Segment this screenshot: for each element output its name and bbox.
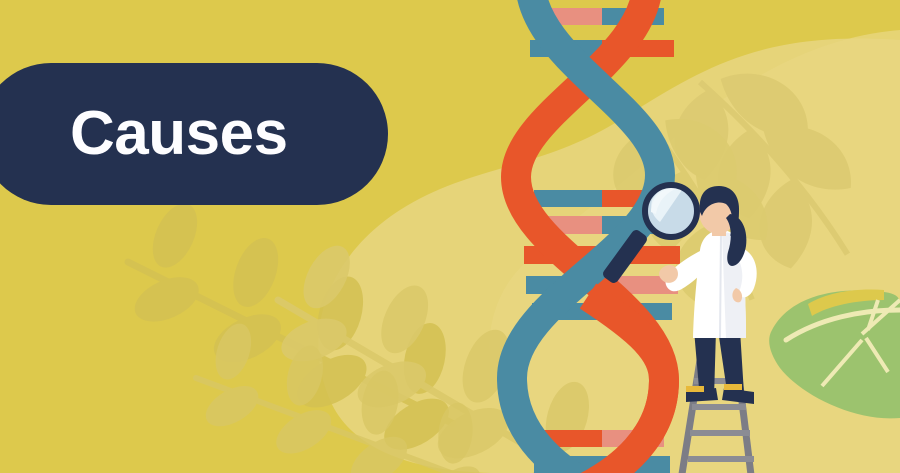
dna-rung — [534, 190, 602, 207]
causes-banner: Causes — [0, 63, 388, 205]
banner-title: Causes — [70, 103, 288, 165]
illustration-canvas: Causes — [0, 0, 900, 473]
